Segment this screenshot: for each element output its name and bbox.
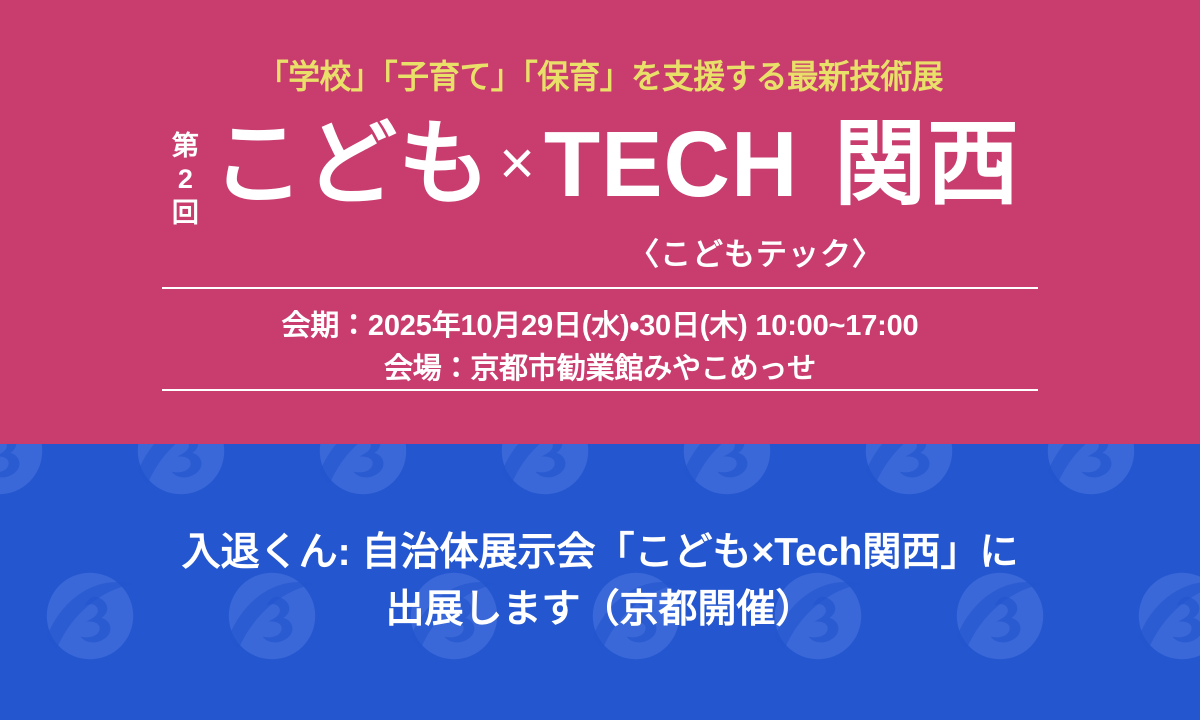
event-title-row: 第 2 回 こども×TECH 関西 bbox=[0, 118, 1200, 230]
event-title-region: 関西 bbox=[834, 112, 1020, 216]
event-title-main: こども bbox=[212, 112, 491, 216]
event-ordinal-line2: 2 bbox=[178, 163, 193, 196]
headline-text: 入退くん: 自治体展示会「こども×Tech関西」に 出展します（京都開催） bbox=[0, 444, 1200, 720]
page-root: 「学校」「子育て」「保育」を支援する最新技術展 第 2 回 こども×TECH 関… bbox=[0, 0, 1200, 720]
event-title: こども×TECH 関西 bbox=[212, 118, 1020, 211]
event-title-tech: TECH bbox=[544, 112, 799, 216]
multiply-icon: × bbox=[491, 129, 544, 198]
event-ordinal-badge: 第 2 回 bbox=[172, 130, 199, 230]
event-key-visual: 「学校」「子育て」「保育」を支援する最新技術展 第 2 回 こども×TECH 関… bbox=[0, 0, 1200, 444]
event-date: 会期：2025年10月29日(水)・30日(木) 10:00~17:00 bbox=[0, 302, 1200, 344]
divider-bottom bbox=[162, 389, 1038, 391]
divider-top bbox=[162, 287, 1038, 289]
event-ordinal-line3: 回 bbox=[172, 197, 199, 230]
event-ordinal-line1: 第 bbox=[172, 130, 199, 163]
event-title-reading: 〈こどもテック〉 bbox=[0, 229, 1200, 274]
headline-line-1: 入退くん: 自治体展示会「こども×Tech関西」に bbox=[182, 525, 1019, 582]
event-venue: 会場：京都市勧業館みやこめっせ bbox=[0, 345, 1200, 387]
event-tagline: 「学校」「子育て」「保育」を支援する最新技術展 bbox=[24, 58, 1176, 96]
headline-line-2: 出展します（京都開催） bbox=[385, 582, 814, 639]
headline-band: 入退くん: 自治体展示会「こども×Tech関西」に 出展します（京都開催） bbox=[0, 444, 1200, 720]
event-title-spacer bbox=[798, 112, 833, 216]
